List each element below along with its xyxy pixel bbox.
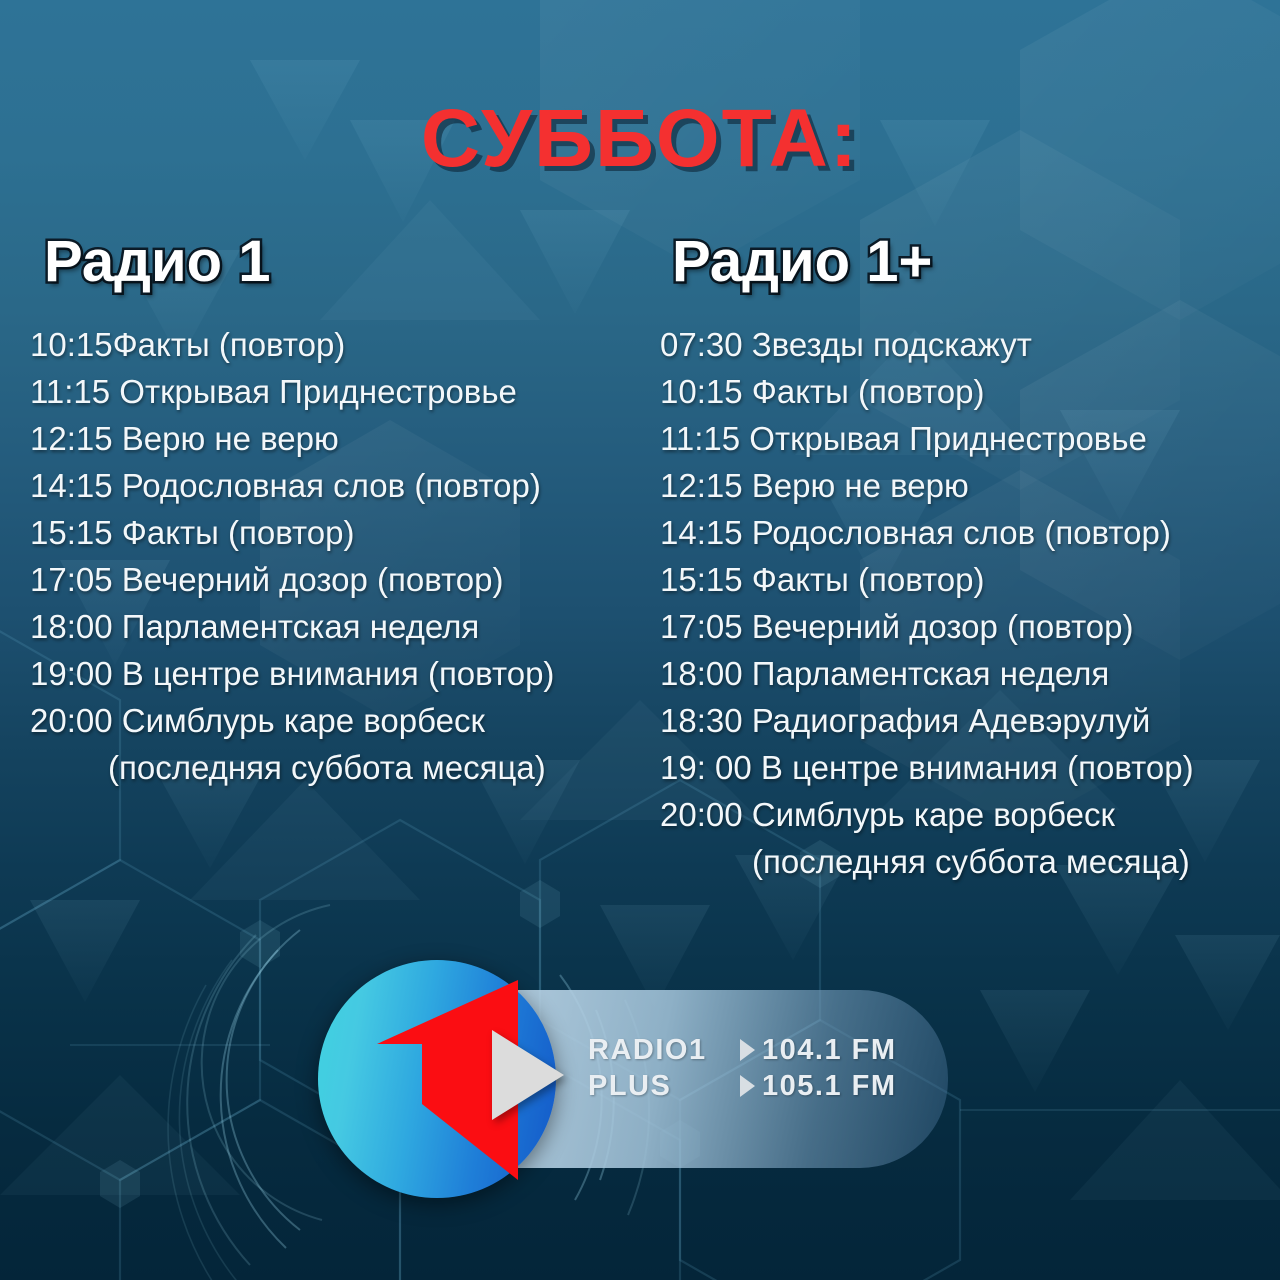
radio-schedule-poster: СУББОТА: Радио 1 10:15Факты (повтор) 11:… bbox=[0, 0, 1280, 1280]
schedule-column-radio1plus: Радио 1+ 07:30 Звезды подскажут 10:15 Фа… bbox=[660, 228, 1280, 885]
schedule-item-note: (последняя суббота месяца) bbox=[660, 838, 1280, 885]
schedule-item: 15:15 Факты (повтор) bbox=[30, 509, 660, 556]
schedule-item: 11:15 Открывая Приднестровье bbox=[30, 368, 660, 415]
schedule-item: 14:15 Родословная слов (повтор) bbox=[660, 509, 1280, 556]
schedule-item: 17:05 Вечерний дозор (повтор) bbox=[30, 556, 660, 603]
schedule-item: 20:00 Симблурь каре ворбеск bbox=[30, 697, 660, 744]
page-title: СУББОТА: bbox=[0, 92, 1280, 186]
frequency-value: 104.1 FM bbox=[762, 1032, 897, 1068]
frequency-name: PLUS bbox=[588, 1068, 740, 1104]
frequency-name: RADIO1 bbox=[588, 1032, 740, 1068]
schedule-item: 18:00 Парламентская неделя bbox=[30, 603, 660, 650]
frequency-lines: RADIO1 104.1 FM PLUS 105.1 FM bbox=[588, 1032, 897, 1104]
schedule-list-radio1plus: 07:30 Звезды подскажут 10:15 Факты (повт… bbox=[660, 321, 1280, 885]
station-logo: RADIO1 104.1 FM PLUS 105.1 FM bbox=[268, 880, 968, 1280]
play-triangle-icon bbox=[492, 1030, 564, 1120]
schedule-item: 19:00 В центре внимания (повтор) bbox=[30, 650, 660, 697]
caret-right-icon bbox=[740, 1039, 755, 1061]
schedule-item: 12:15 Верю не верю bbox=[30, 415, 660, 462]
schedule-item: 17:05 Вечерний дозор (повтор) bbox=[660, 603, 1280, 650]
schedule-item: 12:15 Верю не верю bbox=[660, 462, 1280, 509]
schedule-item: 19: 00 В центре внимания (повтор) bbox=[660, 744, 1280, 791]
schedule-item: 18:00 Парламентская неделя bbox=[660, 650, 1280, 697]
column-heading-radio1: Радио 1 bbox=[30, 228, 660, 295]
schedule-item: 07:30 Звезды подскажут bbox=[660, 321, 1280, 368]
schedule-item: 10:15Факты (повтор) bbox=[30, 321, 660, 368]
caret-right-icon bbox=[740, 1075, 755, 1097]
schedule-item: 10:15 Факты (повтор) bbox=[660, 368, 1280, 415]
schedule-item-note: (последняя суббота месяца) bbox=[30, 744, 660, 791]
column-heading-radio1plus: Радио 1+ bbox=[660, 228, 1280, 295]
schedule-list-radio1: 10:15Факты (повтор) 11:15 Открывая Придн… bbox=[30, 321, 660, 791]
frequency-row-plus: PLUS 105.1 FM bbox=[588, 1068, 897, 1104]
schedule-item: 11:15 Открывая Приднестровье bbox=[660, 415, 1280, 462]
schedule-item: 14:15 Родословная слов (повтор) bbox=[30, 462, 660, 509]
schedule-item: 20:00 Симблурь каре ворбеск bbox=[660, 791, 1280, 838]
schedule-item: 18:30 Радиография Адевэрулуй bbox=[660, 697, 1280, 744]
frequency-value: 105.1 FM bbox=[762, 1068, 897, 1104]
schedule-item: 15:15 Факты (повтор) bbox=[660, 556, 1280, 603]
schedule-column-radio1: Радио 1 10:15Факты (повтор) 11:15 Открыв… bbox=[30, 228, 660, 791]
frequency-row-radio1: RADIO1 104.1 FM bbox=[588, 1032, 897, 1068]
